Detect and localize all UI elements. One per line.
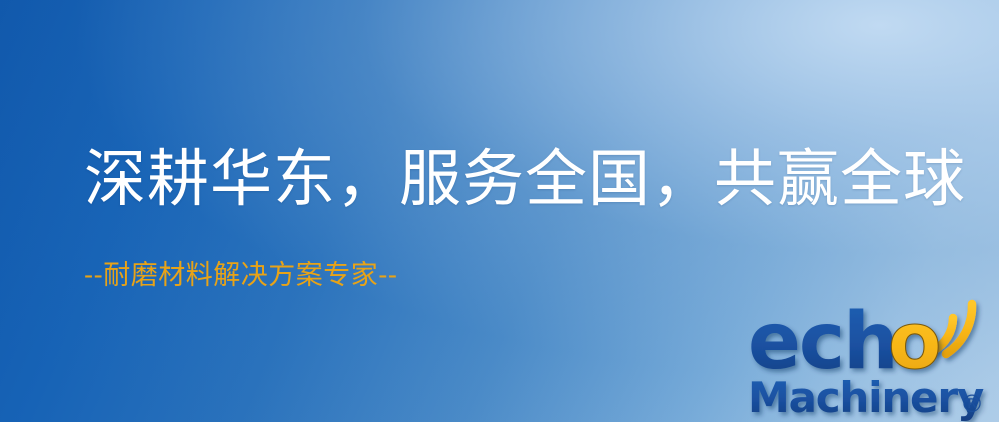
- logo-tagline: Machinery: [748, 373, 984, 422]
- banner-subheadline: --耐磨材料解决方案专家--: [84, 210, 944, 289]
- banner-text-block: 深耕华东，服务全国，共赢全球 --耐磨材料解决方案专家--: [84, 148, 944, 289]
- echo-machinery-logo[interactable]: ech o Machinery ®: [748, 296, 999, 422]
- logo-registered-mark: ®: [960, 390, 984, 418]
- promo-banner: 深耕华东，服务全国，共赢全球 --耐磨材料解决方案专家--: [0, 0, 999, 422]
- banner-headline: 深耕华东，服务全国，共赢全球: [84, 148, 944, 210]
